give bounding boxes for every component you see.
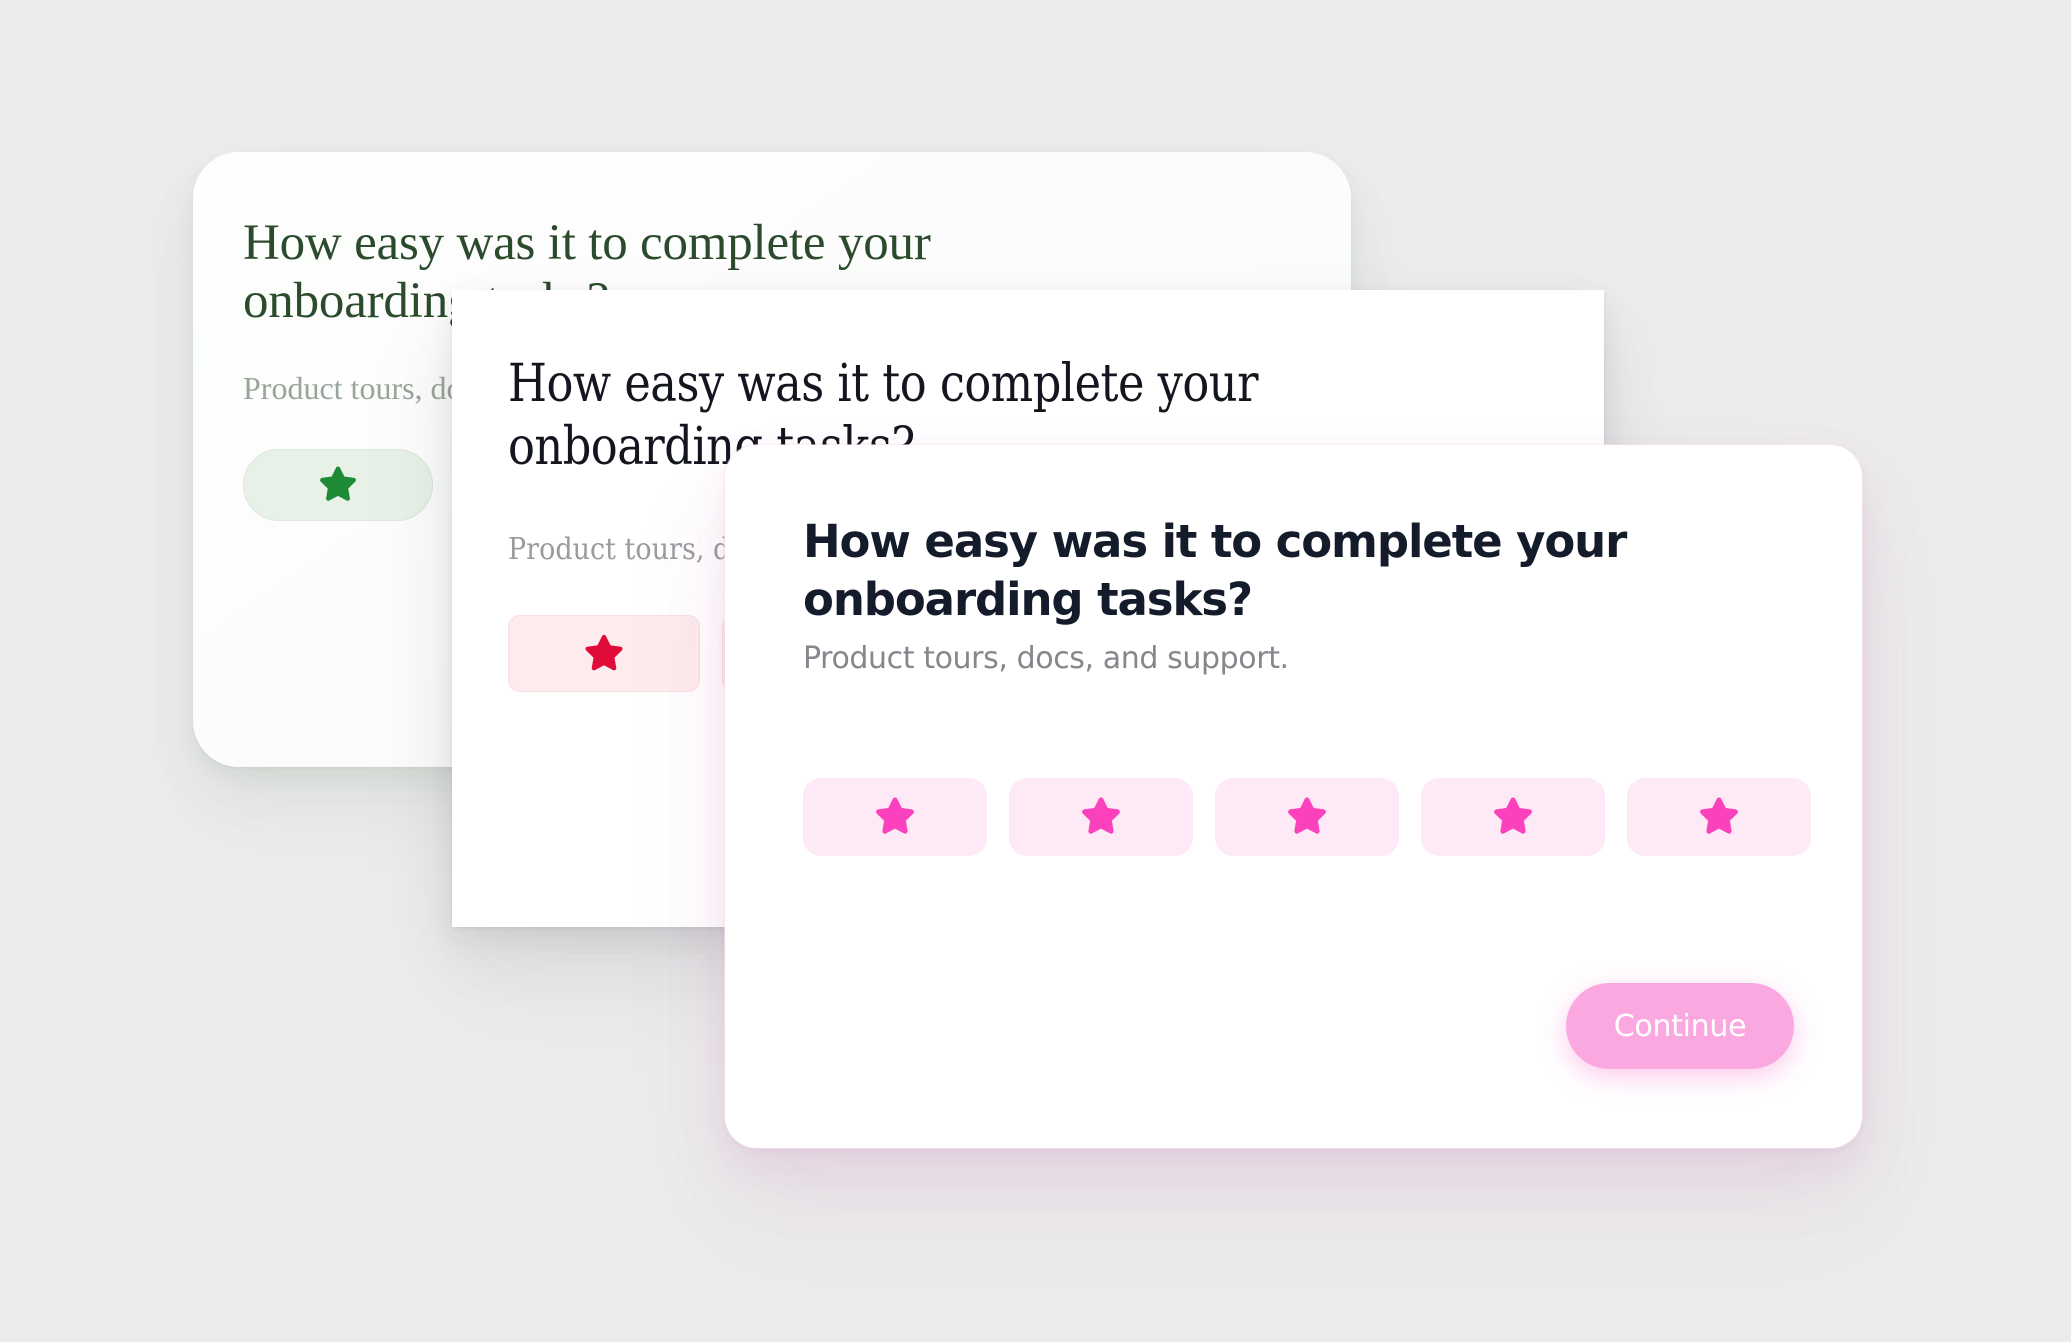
star-rating-option-3[interactable] [1215, 778, 1399, 856]
star-rating-group [803, 778, 1811, 856]
star-icon [1078, 794, 1124, 840]
star-rating-option-2[interactable] [1009, 778, 1193, 856]
survey-card-pink-geometric[interactable]: How easy was it to complete your onboard… [725, 445, 1862, 1148]
star-icon [581, 631, 627, 677]
star-icon [1696, 794, 1742, 840]
star-icon [1490, 794, 1536, 840]
star-rating-option-4[interactable] [1421, 778, 1605, 856]
star-rating-option-1[interactable] [508, 615, 700, 692]
star-icon [316, 463, 360, 507]
survey-question-title: How easy was it to complete your onboard… [803, 513, 1683, 628]
star-rating-option-1[interactable] [803, 778, 987, 856]
survey-card-stack: How easy was it to complete your onboard… [0, 0, 2071, 1342]
star-icon [872, 794, 918, 840]
continue-button[interactable]: Continue [1566, 983, 1794, 1069]
star-icon [1284, 794, 1330, 840]
survey-question-subtitle: Product tours, docs, and support. [803, 641, 1289, 676]
star-rating-option-1[interactable] [243, 449, 433, 521]
star-rating-option-5[interactable] [1627, 778, 1811, 856]
